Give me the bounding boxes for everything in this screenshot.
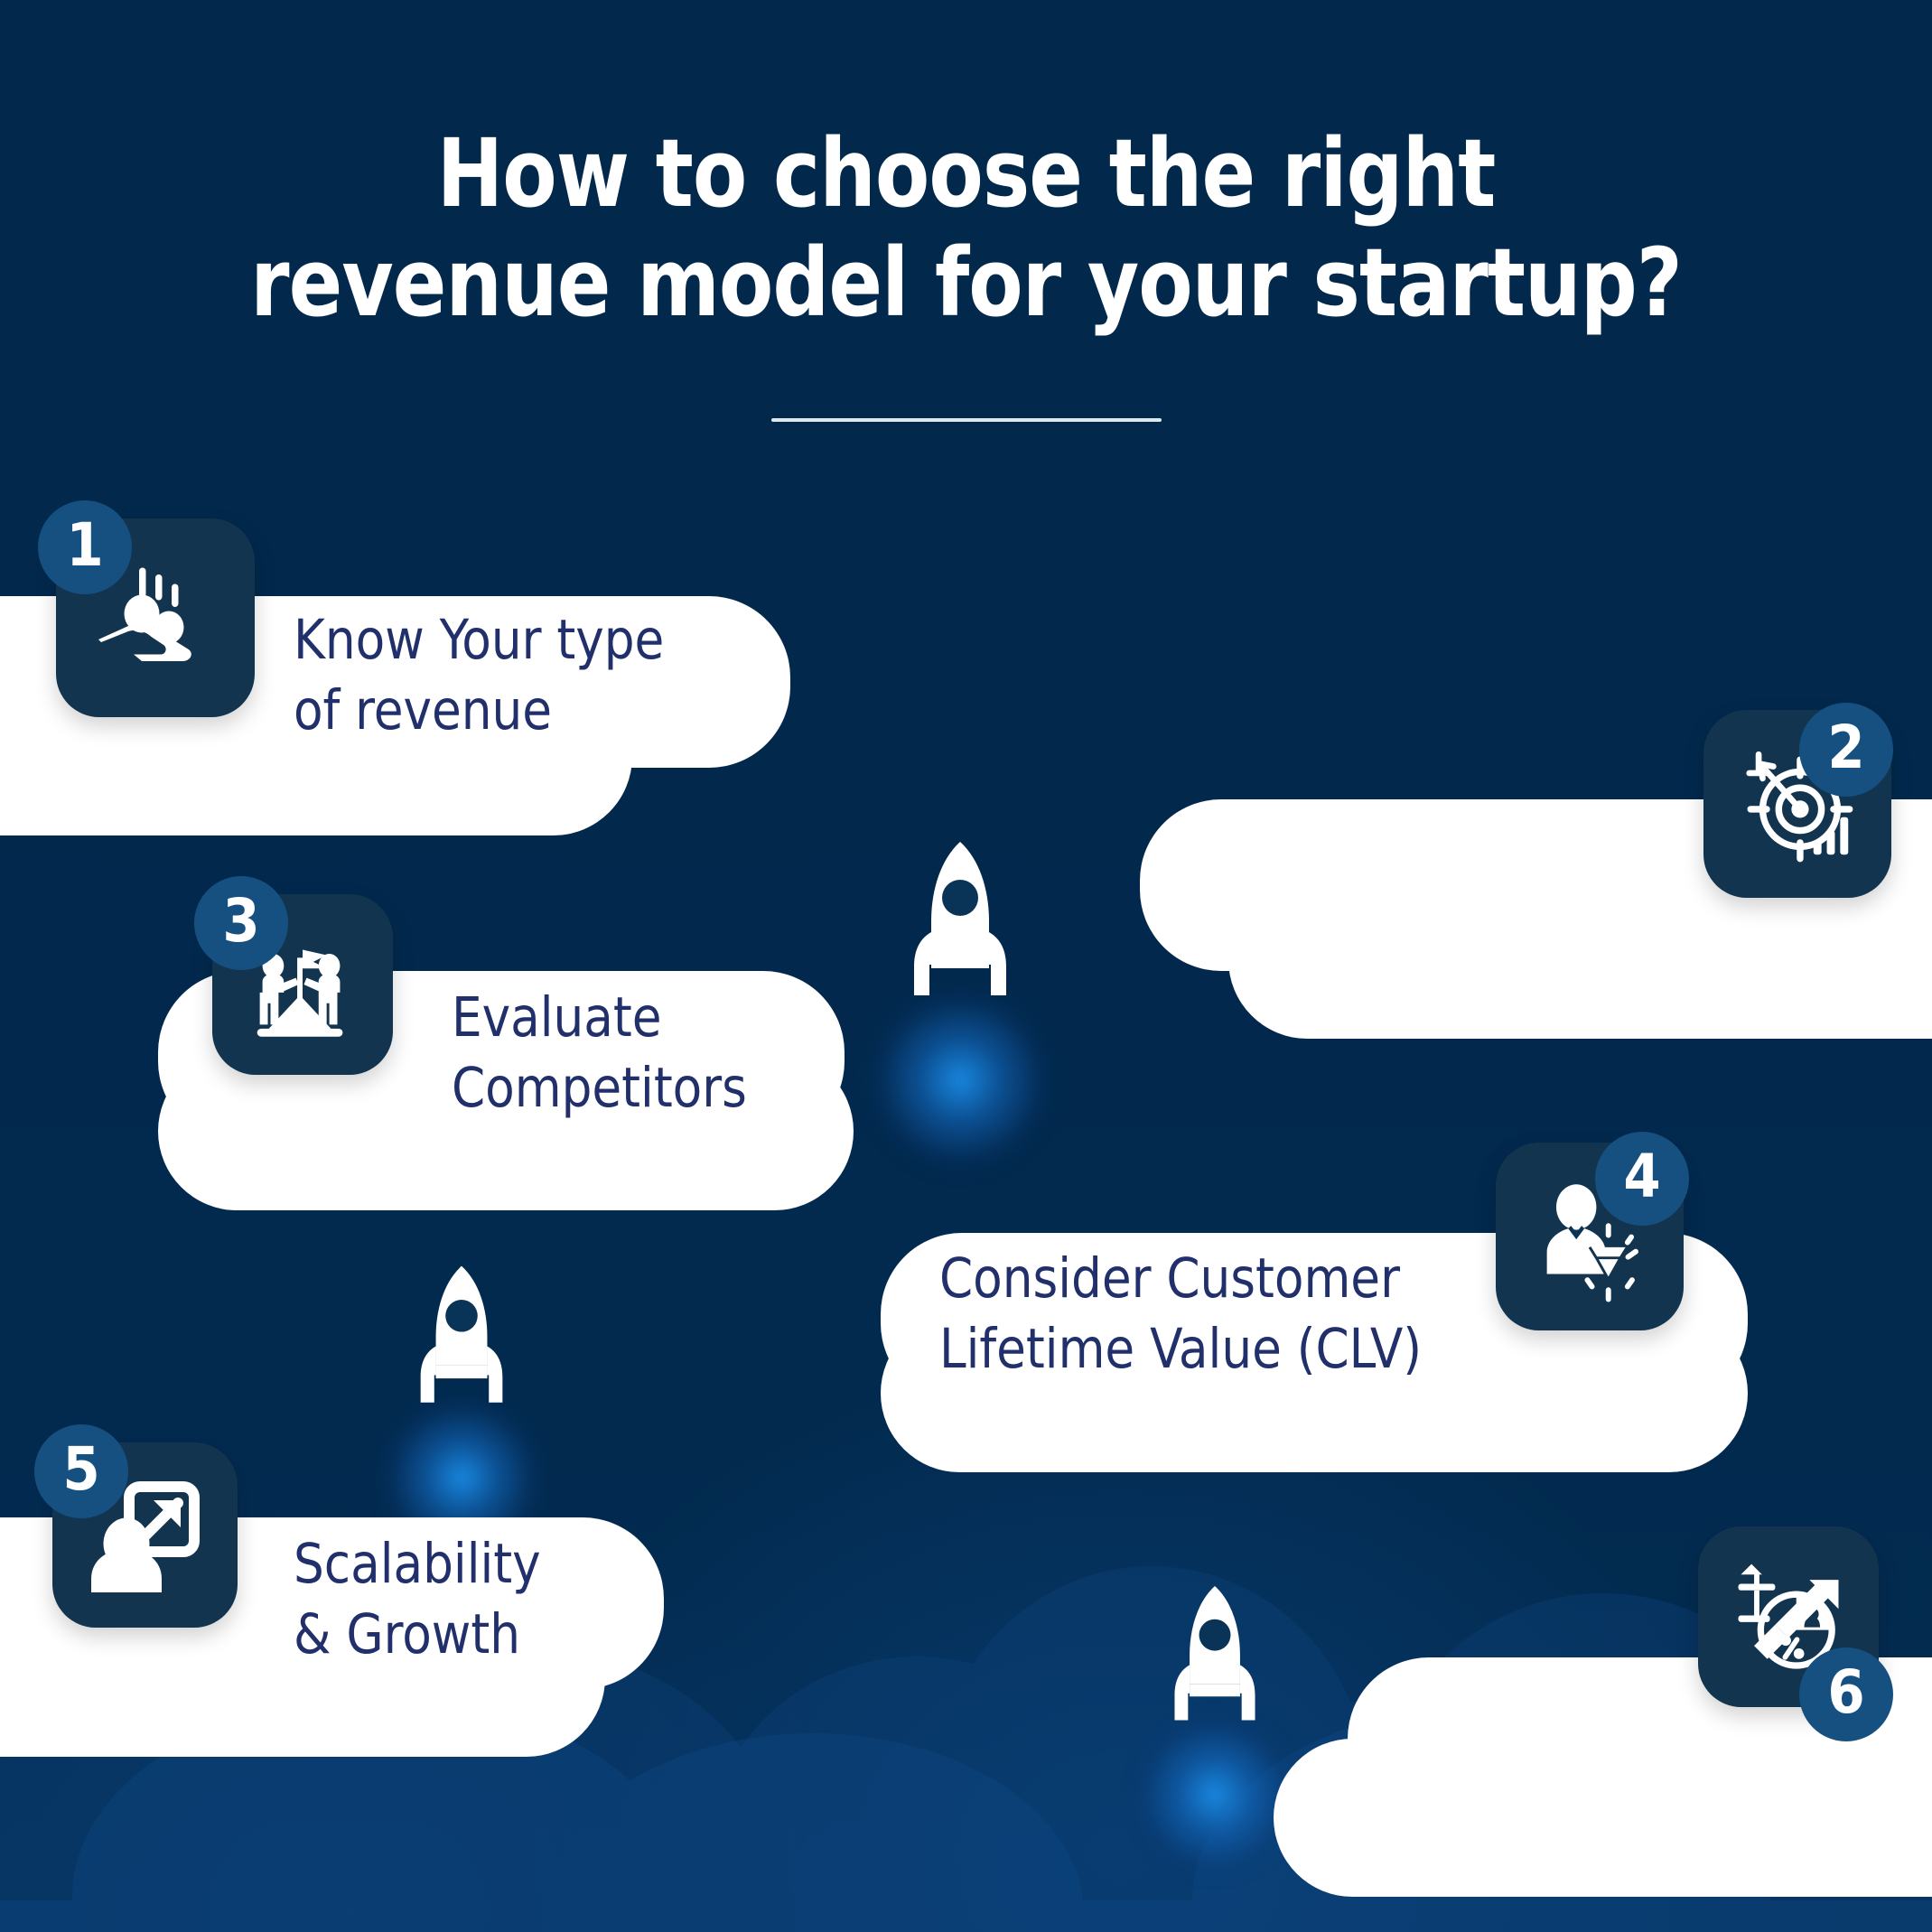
page-title-line2: revenue model for your startup?	[250, 228, 1682, 338]
rocket-icon-middle	[411, 1263, 512, 1409]
rocket-icon-top	[903, 838, 1017, 1003]
page-title-line1: How to choose the right	[437, 118, 1496, 229]
infographic-canvas: How to choose the rightrevenue model for…	[0, 0, 1932, 1932]
step-label: Know Your type of revenue	[294, 605, 784, 746]
step-number: 4	[1623, 1147, 1660, 1207]
step-card-lower	[1274, 1739, 1932, 1897]
page-header: How to choose the rightrevenue model for…	[0, 0, 1932, 337]
step-number: 1	[66, 516, 103, 575]
step-label: Evaluate Competitors	[452, 983, 907, 1124]
step-badge: 2	[1799, 703, 1893, 797]
page-title: How to choose the rightrevenue model for…	[58, 0, 1874, 337]
step-number: 5	[62, 1440, 99, 1499]
step-number: 6	[1827, 1663, 1864, 1722]
step-label: Scalability & Growth	[294, 1529, 714, 1670]
step-number: 2	[1827, 718, 1864, 778]
step-number: 3	[222, 891, 259, 951]
step-badge: 6	[1799, 1647, 1893, 1741]
step-badge: 5	[34, 1424, 128, 1518]
step-badge: 1	[38, 500, 132, 594]
step-card-lower	[1228, 881, 1932, 1039]
step-badge: 3	[194, 876, 288, 970]
step-label: Consider Customer Lifetime Value (CLV)	[939, 1244, 1570, 1385]
rocket-icon-bottom	[1165, 1582, 1265, 1727]
step-badge: 4	[1595, 1132, 1689, 1226]
title-divider	[771, 418, 1162, 422]
